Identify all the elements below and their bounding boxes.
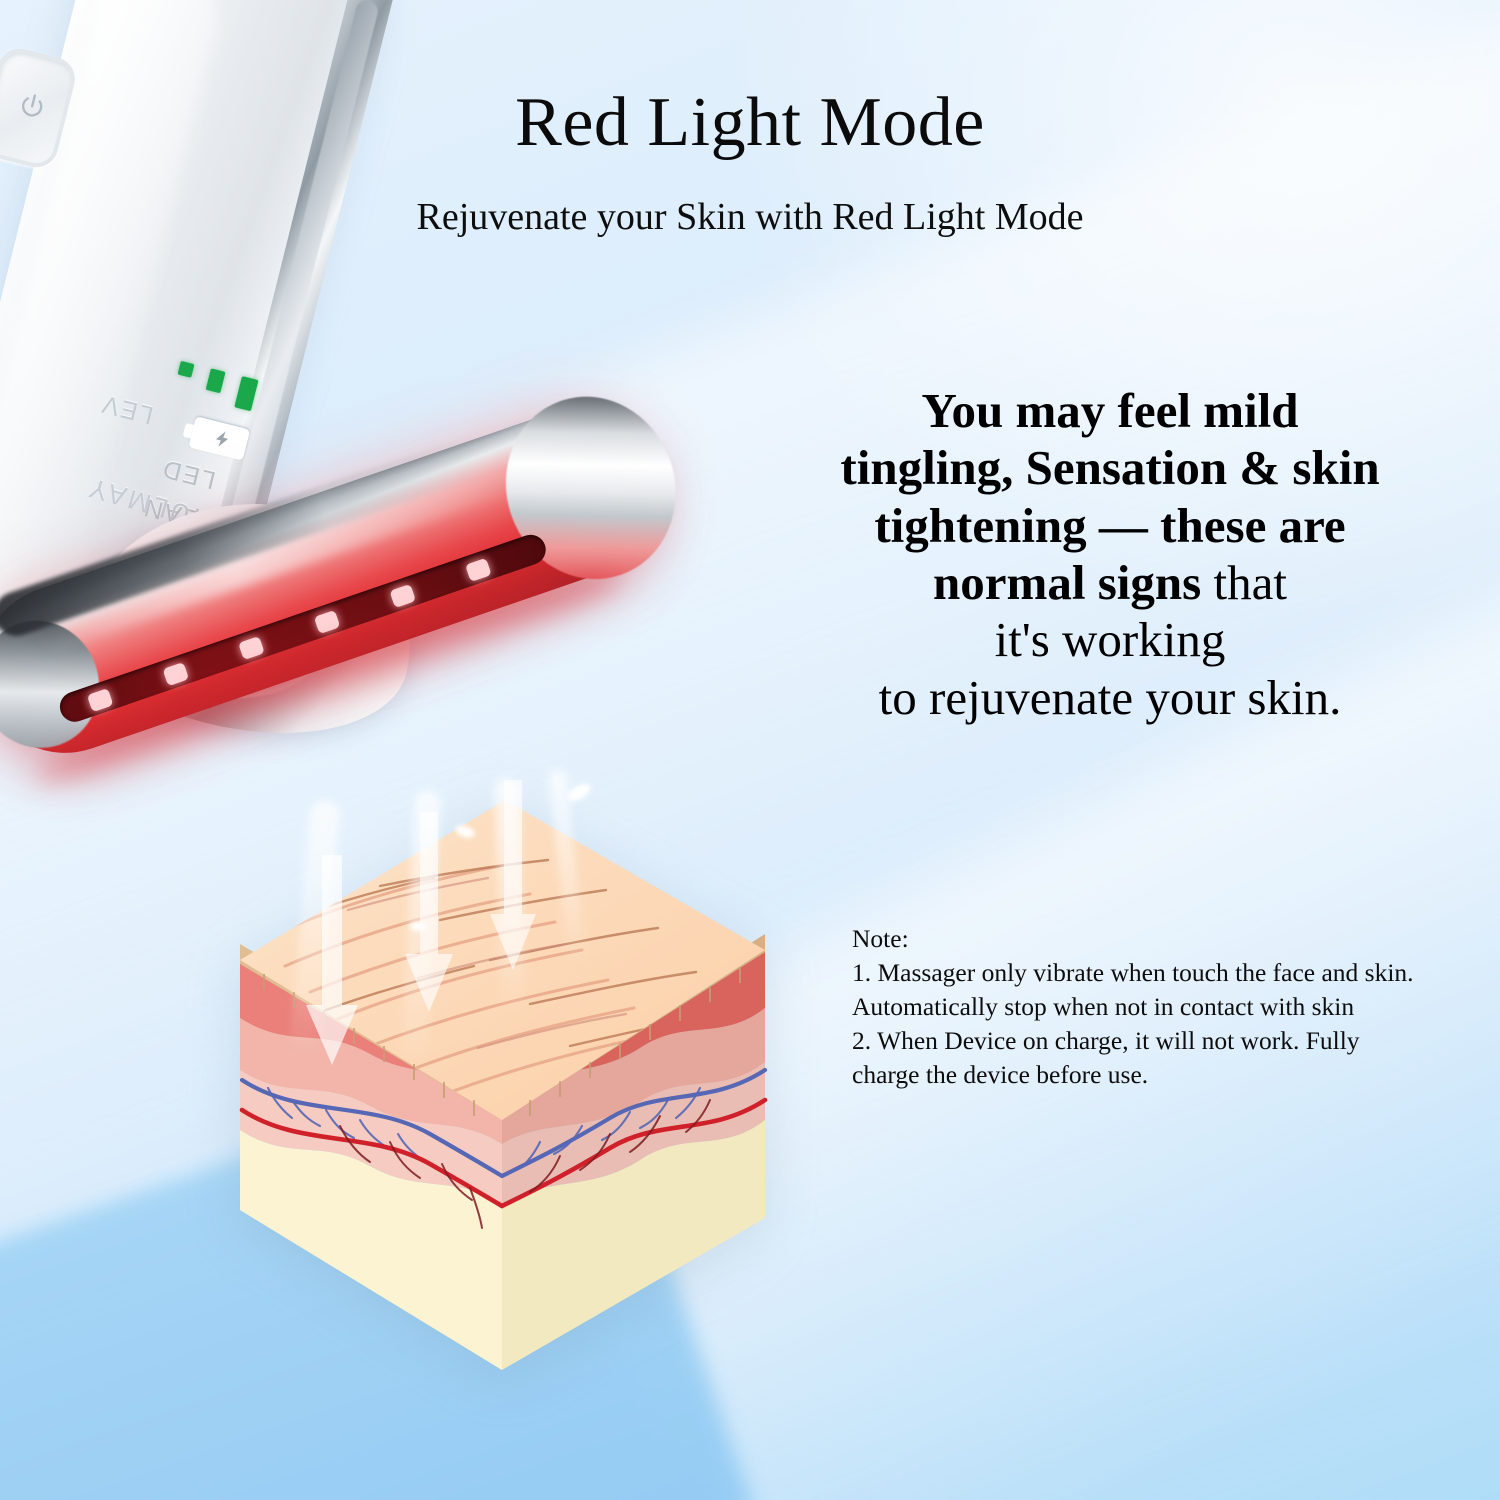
headline-line-4-rest: that [1201,555,1287,610]
level-bar-1 [234,376,258,411]
note-heading: Note: [852,922,1422,956]
headline-line-6: to rejuvenate your skin. [879,670,1342,725]
note-item-1: 1. Massager only vibrate when touch the … [852,956,1422,1024]
note-block: Note: 1. Massager only vibrate when touc… [852,922,1422,1092]
note-item-2: 2. When Device on charge, it will not wo… [852,1024,1422,1092]
penetration-arrow-3 [485,780,541,970]
penetration-arrow-2 [400,812,458,1012]
headline-emphasis: normal signs [933,555,1201,610]
headline-line-5: it's working [995,612,1226,667]
product-infographic: Red Light Mode Rejuvenate your Skin with… [0,0,1500,1500]
headline-block: You may feel mild tingling, Sensation & … [760,382,1460,726]
headline-line-3: tightening — these are [874,498,1345,553]
headline-line-1: You may feel mild [922,383,1299,438]
penetration-arrow-1 [300,855,362,1065]
panel-label-level: LEV [98,388,157,429]
headline-line-2: tingling, Sensation & skin [840,440,1379,495]
level-bar-2 [206,368,226,393]
level-bar-3 [178,361,195,378]
